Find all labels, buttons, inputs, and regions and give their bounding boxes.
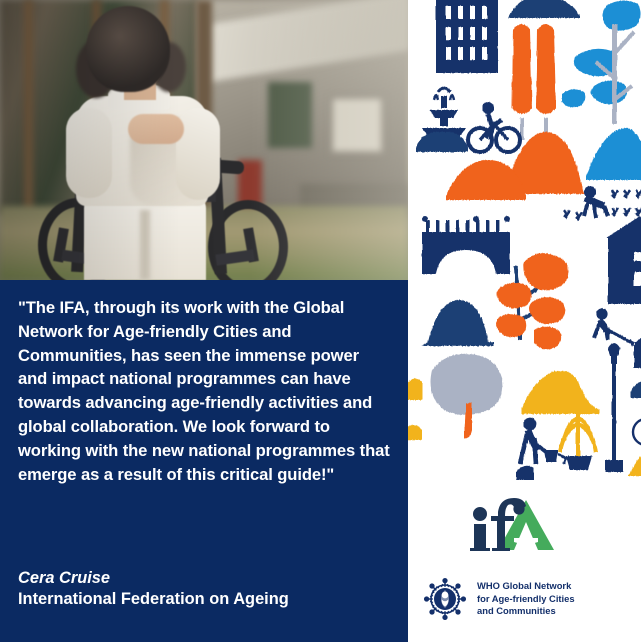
apartment-building-icon <box>436 0 498 73</box>
social-media-quote-card: "The IFA, through its work with the Glob… <box>0 0 641 642</box>
orange-poplar-trees-icon <box>512 24 556 140</box>
grey-tree-icon <box>431 354 503 439</box>
navy-hill-icon <box>508 0 580 18</box>
who-logo-line-1: WHO Global Network <box>477 580 575 593</box>
orange-partial-shapes <box>408 378 422 440</box>
bottom-partial-shape <box>516 466 534 480</box>
hero-photo <box>0 0 408 280</box>
person-watering-icon <box>520 418 566 464</box>
wheelchair-sign-icon <box>633 419 641 445</box>
attribution-author: Cera Cruise <box>18 568 390 589</box>
fountain-icon <box>422 88 466 136</box>
navy-mound-icon <box>422 300 494 346</box>
ifa-logo[interactable] <box>468 492 580 554</box>
bench-icon <box>634 337 641 368</box>
who-logo-text: WHO Global Network for Age-friendly Citi… <box>477 580 575 618</box>
stone-bridge-icon <box>422 216 510 274</box>
photo-vignette <box>0 0 180 280</box>
blue-canopy-tree-icon <box>562 0 641 124</box>
left-panel: "The IFA, through its work with the Glob… <box>0 0 408 642</box>
quote-block: "The IFA, through its work with the Glob… <box>18 296 390 486</box>
blue-hill-icon <box>586 128 641 180</box>
attribution: Cera Cruise International Federation on … <box>18 568 390 611</box>
house-with-door-icon <box>606 216 641 304</box>
age-friendly-illustration <box>408 0 641 480</box>
yellow-hill-icon <box>522 371 600 414</box>
quote-text: "The IFA, through its work with the Glob… <box>18 296 390 486</box>
cyclist-icon <box>468 102 520 152</box>
who-age-friendly-globe-emblem <box>422 576 468 622</box>
attribution-organization: International Federation on Ageing <box>18 589 390 610</box>
person-raking-icon <box>594 308 641 350</box>
who-global-network-logo[interactable]: WHO Global Network for Age-friendly Citi… <box>422 570 636 628</box>
street-lamp-icon <box>605 343 623 472</box>
photo-highlight <box>250 0 408 280</box>
ifa-logo-letter-a <box>498 500 554 550</box>
warning-triangle-icon <box>628 456 641 476</box>
right-panel: WHO Global Network for Age-friendly Citi… <box>408 0 641 642</box>
who-logo-line-3: and Communities <box>477 605 575 618</box>
who-logo-line-2: for Age-friendly Cities <box>477 593 575 606</box>
navy-bush-right-icon <box>630 381 641 398</box>
